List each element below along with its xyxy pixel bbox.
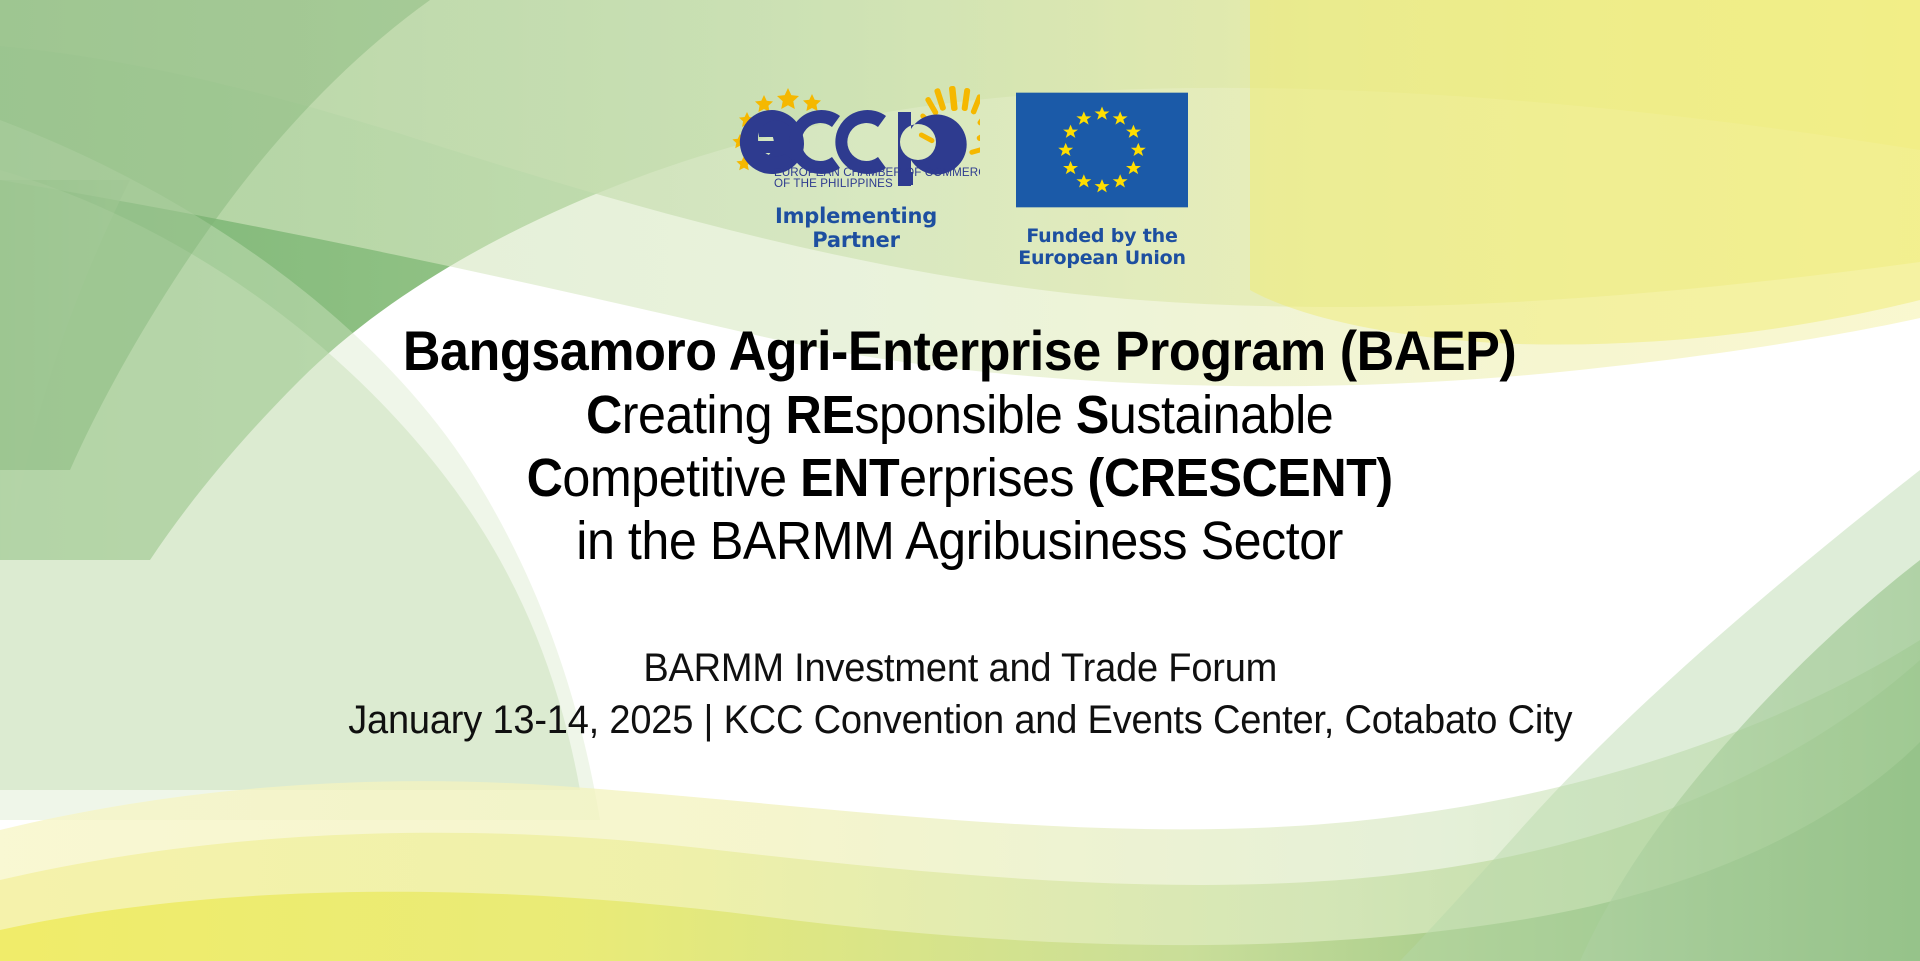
banner-content: EUROPEAN CHAMBER OF COMMERCE OF THE PHIL… [0,0,1920,961]
headline-line-2: Creating REsponsible Sustainable [403,384,1516,447]
headline-line-3-part-5: (CRESCENT) [1088,448,1393,508]
headline-line-3-part-1: C [527,448,563,508]
headline-line-2-part-3: RE [786,385,855,445]
headline-line-3: Competitive ENTerprises (CRESCENT) [403,447,1516,510]
headline-line-2-part-5: S [1076,385,1109,445]
event-details: BARMM Investment and Trade Forum January… [316,642,1604,746]
event-name: BARMM Investment and Trade Forum [348,642,1572,694]
eu-logo-block: Funded by the European Union [1016,86,1188,270]
page-title: Bangsamoro Agri-Enterprise Program (BAEP… [361,318,1558,574]
eu-caption: Funded by the European Union [1018,225,1186,270]
headline-line-1: Bangsamoro Agri-Enterprise Program (BAEP… [403,318,1516,384]
logo-row: EUROPEAN CHAMBER OF COMMERCE OF THE PHIL… [732,86,1188,270]
eu-flag-icon [1016,92,1188,208]
event-date-venue: January 13-14, 2025 | KCC Convention and… [348,694,1572,746]
eccp-logo-block: EUROPEAN CHAMBER OF COMMERCE OF THE PHIL… [732,86,980,253]
headline-line-2-part-2: reating [622,385,786,445]
headline-line-2-part-4: sponsible [855,385,1076,445]
eccp-logo-icon: EUROPEAN CHAMBER OF COMMERCE OF THE PHIL… [732,86,980,190]
headline-line-4: in the BARMM Agribusiness Sector [403,510,1516,573]
headline-line-3-part-4: erprises [900,448,1088,508]
headline-line-3-part-3: ENT [801,448,900,508]
eccp-tagline-line-2: OF THE PHILIPPINES [774,177,893,190]
headline-line-2-part-6: ustainable [1109,385,1333,445]
eccp-square-mark [900,172,913,185]
headline-line-3-part-2: ompetitive [563,448,801,508]
eccp-caption: Implementing Partner [775,204,937,253]
eu-flag-wrapper [1016,92,1188,213]
event-banner: EUROPEAN CHAMBER OF COMMERCE OF THE PHIL… [0,0,1920,961]
headline-line-2-part-1: C [586,385,622,445]
